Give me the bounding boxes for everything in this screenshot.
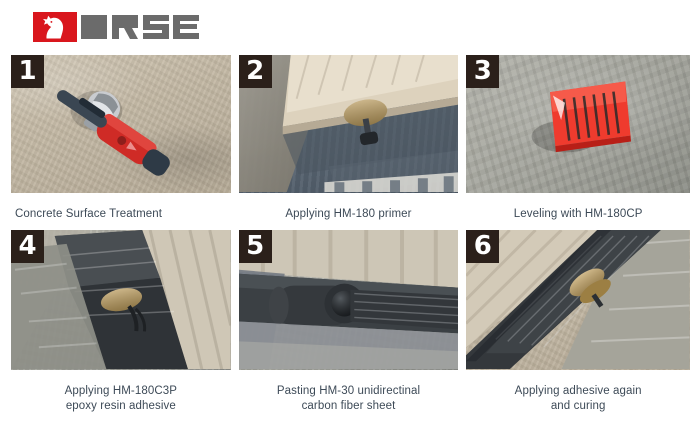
caption-line: Pasting HM-30 unidirectinal — [239, 384, 459, 400]
brand-header — [0, 0, 700, 50]
horse-logo — [33, 12, 201, 42]
step-caption-5: Pasting HM-30 unidirectinal carbon fiber… — [239, 370, 459, 415]
steps-grid: 1 Concrete Surface Treatment — [11, 55, 690, 415]
step-image-2: 2 — [239, 55, 459, 193]
step-card-5[interactable]: 5 Pasting HM-30 unidirectinal carbon fib… — [239, 230, 459, 415]
steps-row-2: 4 Applying HM-180C3P epoxy resin adhesiv… — [11, 230, 690, 415]
step-card-3[interactable]: 3 Leveling with HM-180CP — [466, 55, 690, 223]
step-card-6[interactable]: 6 Applying adhesive again and curing — [466, 230, 690, 415]
step-badge-4: 4 — [11, 230, 44, 263]
caption-line: and curing — [466, 399, 690, 415]
caption-line: Applying HM-180C3P — [11, 384, 231, 400]
step-image-4: 4 — [11, 230, 231, 370]
caption-line: Applying HM-180 primer — [239, 207, 459, 223]
step-badge-6: 6 — [466, 230, 499, 263]
step-card-1[interactable]: 1 Concrete Surface Treatment — [11, 55, 231, 223]
second-adhesive-coat-icon — [466, 230, 690, 369]
step-badge-3: 3 — [466, 55, 499, 88]
caption-line: epoxy resin adhesive — [11, 399, 231, 415]
step-image-3: 3 — [466, 55, 690, 193]
step-card-4[interactable]: 4 Applying HM-180C3P epoxy resin adhesiv… — [11, 230, 231, 415]
horse-head-icon — [33, 12, 77, 42]
caption-line: Concrete Surface Treatment — [15, 207, 231, 223]
step-card-2[interactable]: 2 Applying HM-180 primer — [239, 55, 459, 223]
notched-trowel-icon — [466, 55, 690, 192]
step-badge-5: 5 — [239, 230, 272, 263]
caption-line: Applying adhesive again — [466, 384, 690, 400]
step-image-1: 1 — [11, 55, 231, 193]
caption-line: Leveling with HM-180CP — [466, 207, 690, 223]
logo-wordmark — [79, 14, 201, 40]
step-badge-1: 1 — [11, 55, 44, 88]
caption-line: carbon fiber sheet — [239, 399, 459, 415]
step-badge-2: 2 — [239, 55, 272, 88]
step-caption-2: Applying HM-180 primer — [239, 193, 459, 223]
step-image-5: 5 — [239, 230, 459, 370]
step-caption-3: Leveling with HM-180CP — [466, 193, 690, 223]
steps-row-1: 1 Concrete Surface Treatment — [11, 55, 690, 223]
step-caption-6: Applying adhesive again and curing — [466, 370, 690, 415]
step-image-6: 6 — [466, 230, 690, 370]
step-caption-4: Applying HM-180C3P epoxy resin adhesive — [11, 370, 231, 415]
page-root: 1 Concrete Surface Treatment — [0, 0, 700, 438]
step-caption-1: Concrete Surface Treatment — [11, 193, 231, 223]
